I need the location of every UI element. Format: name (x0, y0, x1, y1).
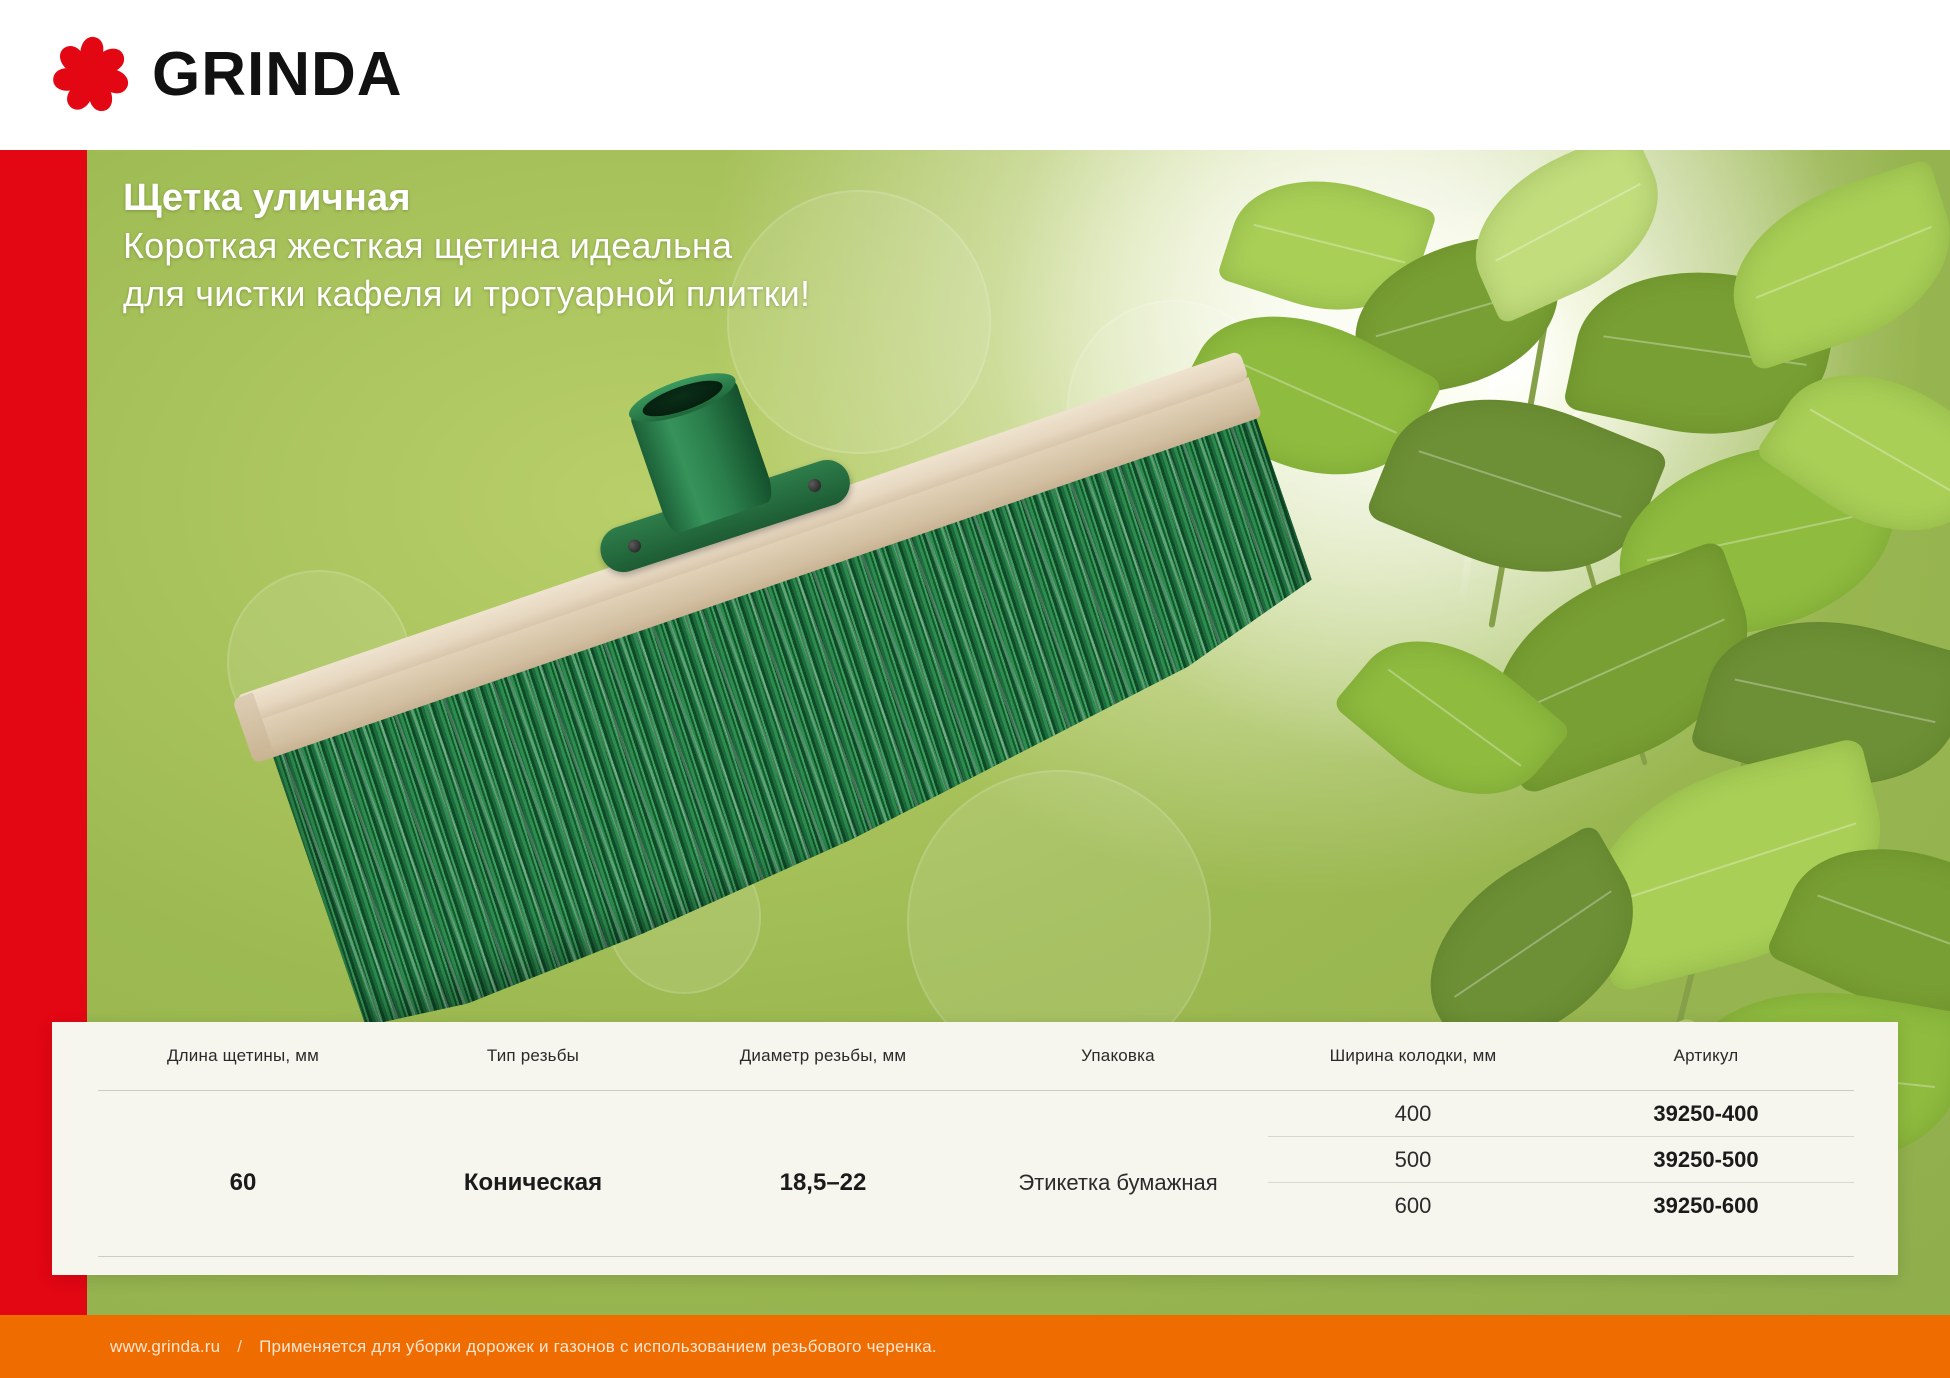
table-row: 400 (1268, 1091, 1558, 1137)
hero-subtitle-line1: Короткая жесткая щетина идеальна (123, 223, 810, 269)
page-title: Щетка уличная (123, 175, 810, 221)
table-row: 500 (1268, 1137, 1558, 1183)
spec-table-panel: Длина щетины, мм Тип резьбы Диаметр резь… (52, 1022, 1898, 1275)
screw-icon (626, 538, 642, 554)
product-datasheet-page: GRINDA (0, 0, 1950, 1378)
cell-article-group: 39250-400 39250-500 39250-600 (1558, 1022, 1854, 1275)
footer-note: Применяется для уборки дорожек и газонов… (259, 1337, 937, 1356)
spec-table-body: 60 Коническая 18,5–22 Этикетка бумажная … (98, 1022, 1854, 1275)
table-row: 39250-500 (1558, 1137, 1854, 1183)
table-row: 600 (1268, 1183, 1558, 1228)
hero-subtitle-line2: для чистки кафеля и тротуарной плитки! (123, 271, 810, 317)
flower-pinwheel-icon (48, 32, 134, 118)
cell-block-width-group: 400 500 600 (1268, 1022, 1558, 1275)
screw-icon (806, 477, 822, 493)
cell-thread-type: Коническая (388, 1022, 678, 1275)
hero-headline: Щетка уличная Короткая жесткая щетина ид… (123, 175, 810, 318)
footer-divider (98, 1256, 1854, 1257)
table-row: 39250-400 (1558, 1091, 1854, 1137)
footer-website-link[interactable]: www.grinda.ru (110, 1337, 220, 1356)
table-row: 39250-600 (1558, 1183, 1854, 1228)
brand-logo[interactable]: GRINDA (48, 32, 403, 118)
product-image (217, 305, 1347, 965)
cell-packaging: Этикетка бумажная (968, 1022, 1268, 1275)
footer-content: www.grinda.ru / Применяется для уборки д… (110, 1337, 937, 1357)
footer-separator: / (237, 1337, 242, 1356)
cell-bristle-length: 60 (98, 1022, 388, 1275)
cell-thread-diameter: 18,5–22 (678, 1022, 968, 1275)
footer-bar: www.grinda.ru / Применяется для уборки д… (0, 1315, 1950, 1378)
brand-name: GRINDA (152, 44, 403, 106)
header-bar: GRINDA (0, 0, 1950, 150)
